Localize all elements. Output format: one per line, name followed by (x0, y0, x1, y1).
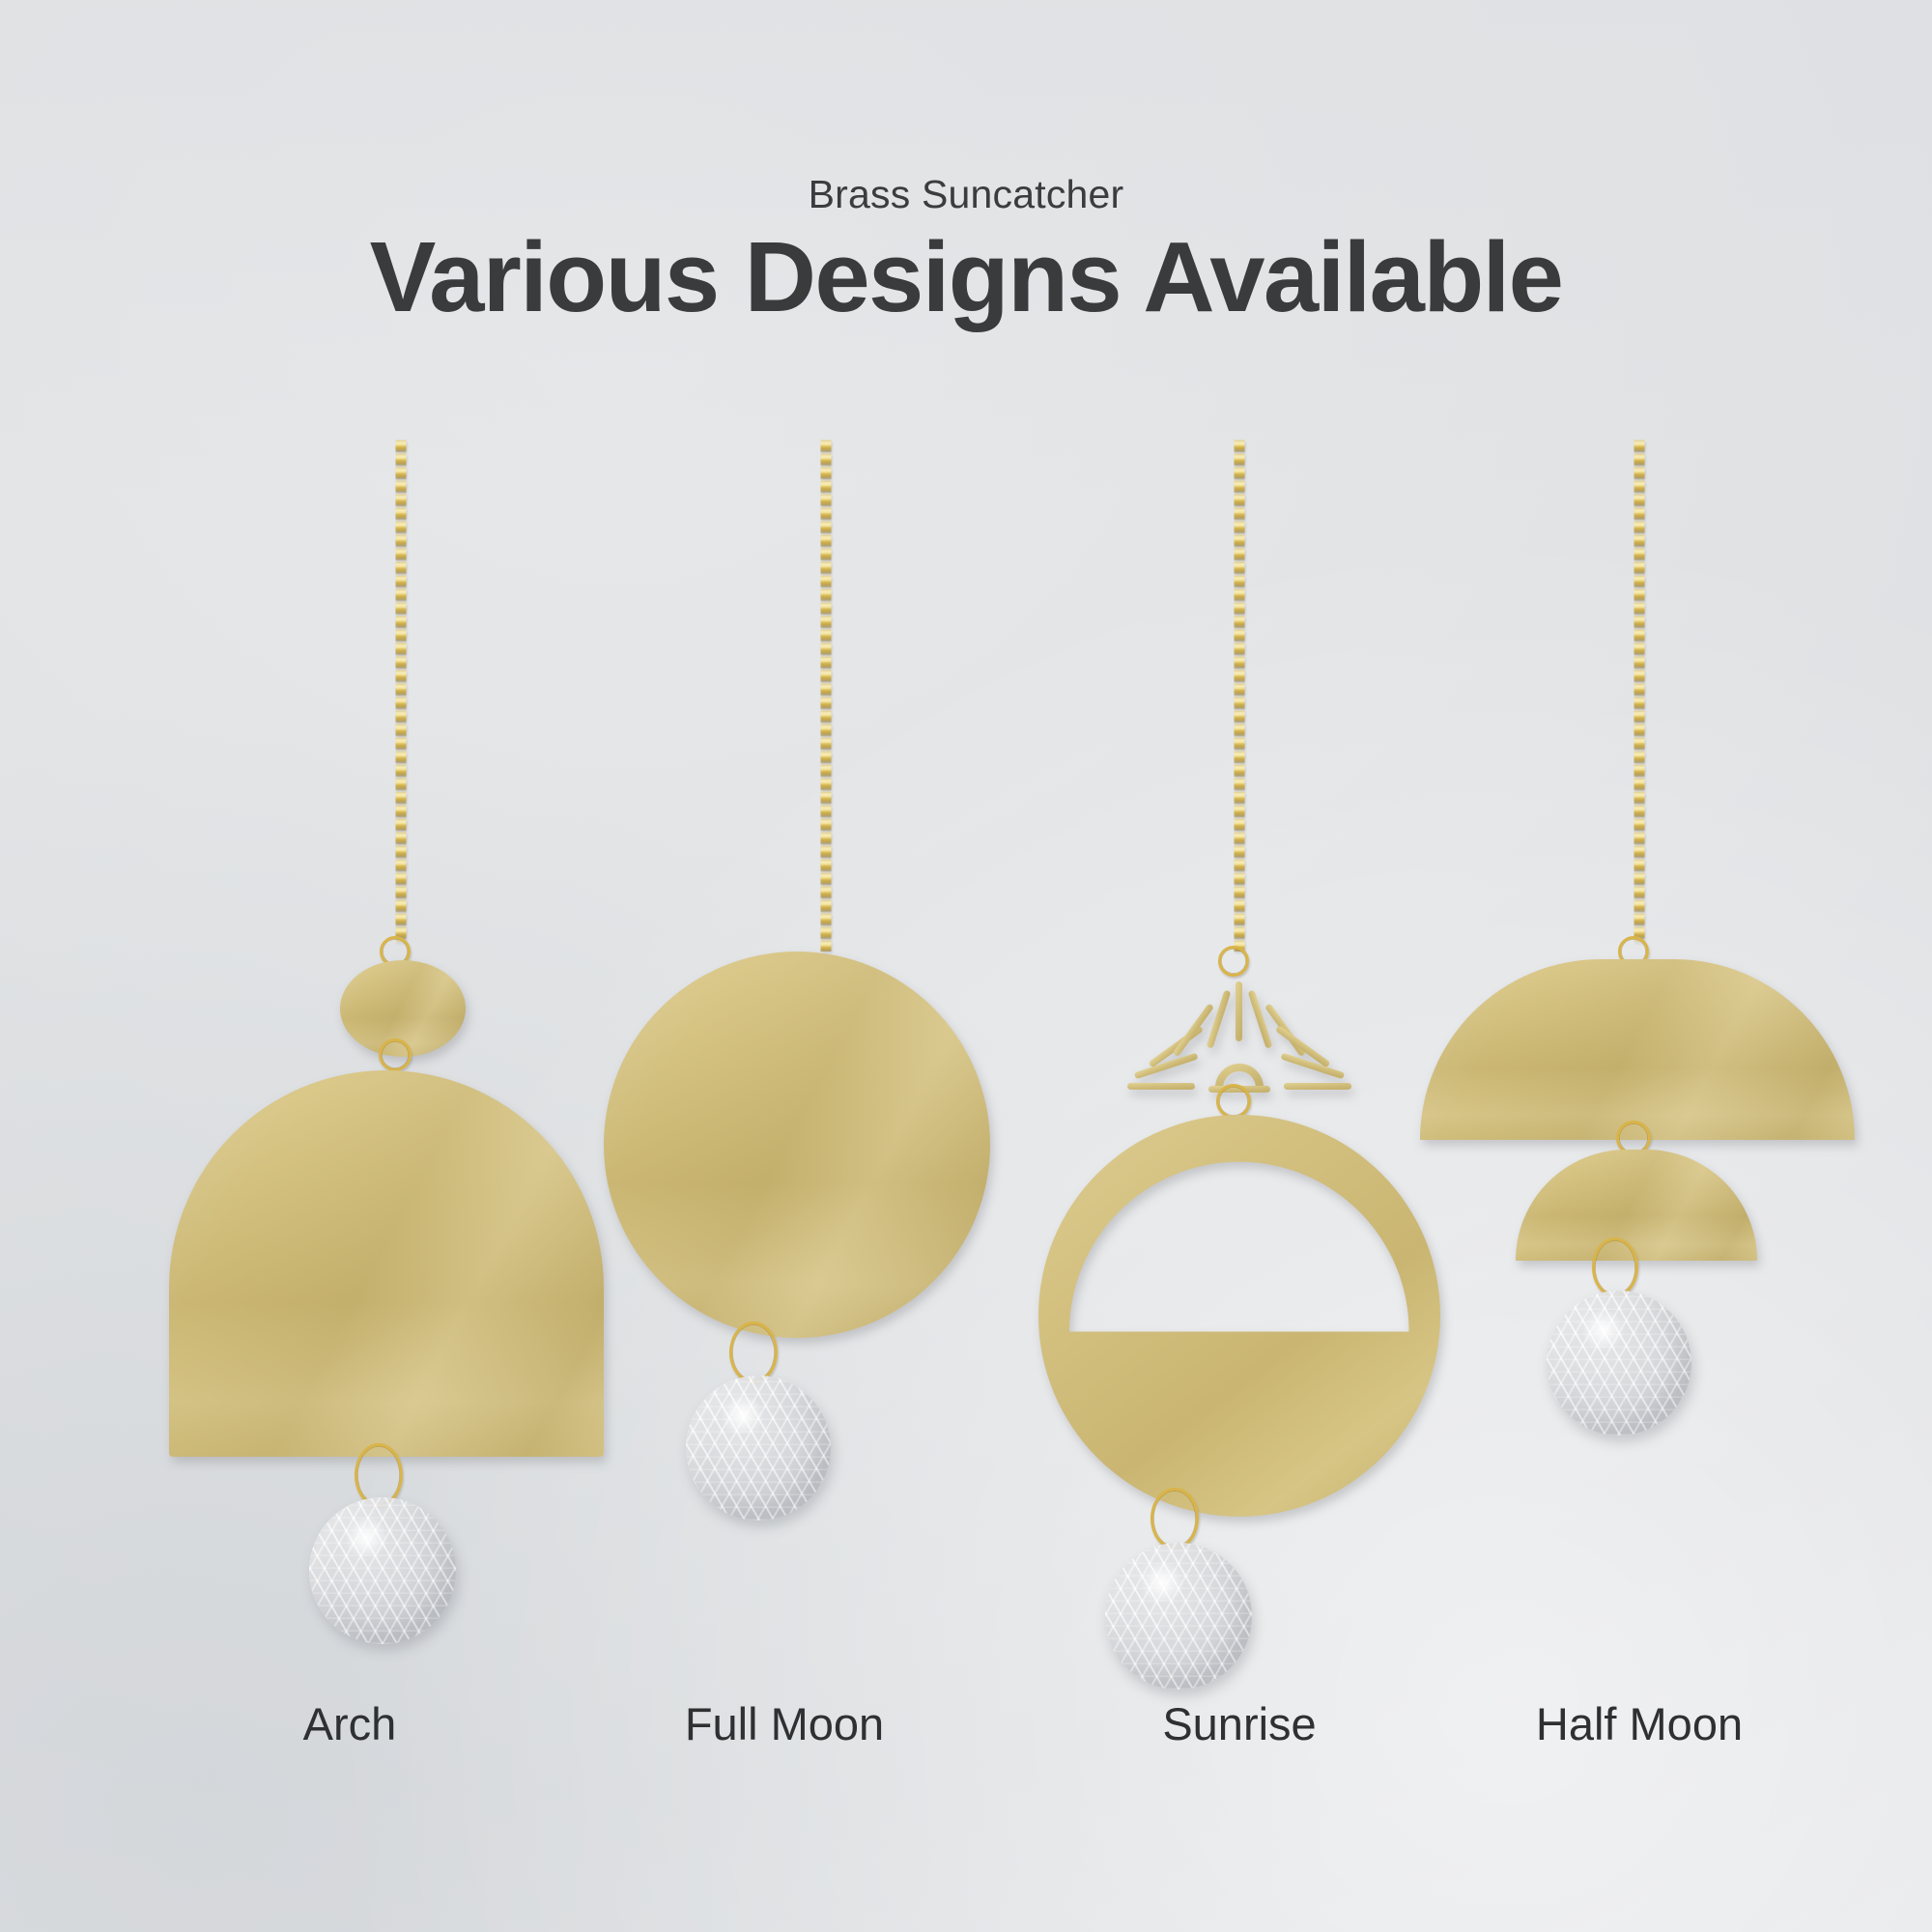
crystal-facets (1547, 1291, 1691, 1435)
small-half-moon (1516, 1150, 1757, 1261)
hanging-chain (1634, 440, 1645, 942)
product-image-canvas: Brass Suncatcher Various Designs Availab… (0, 0, 1932, 1932)
large-half-moon (1420, 959, 1855, 1140)
crystal-glint (1578, 1311, 1628, 1349)
jump-ring-bottom (1592, 1237, 1638, 1297)
crystal-ball (1547, 1291, 1691, 1435)
design-label-half-moon: Half Moon (1536, 1697, 1743, 1750)
suncatcher-half-moon: Half Moon (0, 0, 1932, 1932)
